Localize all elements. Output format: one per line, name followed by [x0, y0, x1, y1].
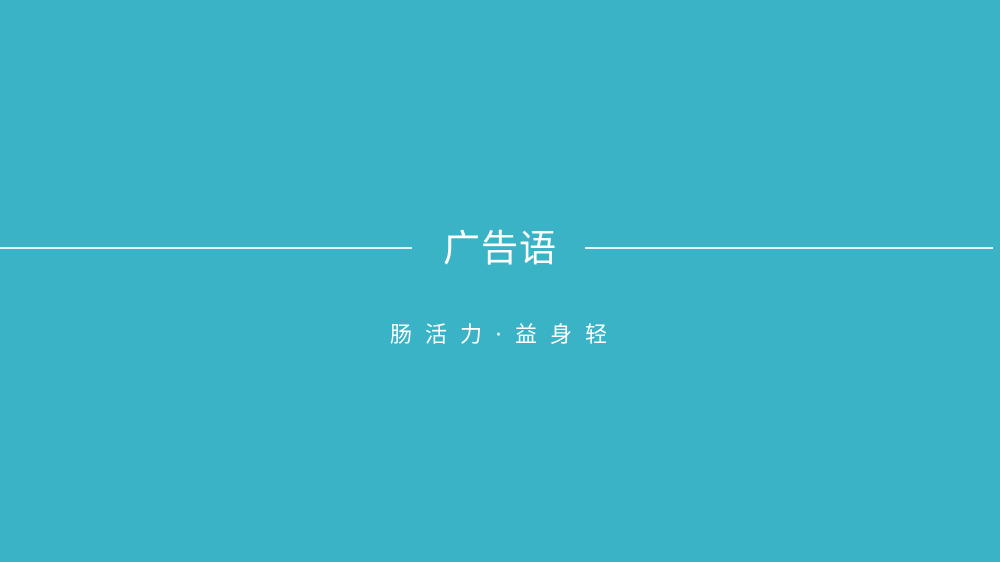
slogan-text: 肠 活 力 · 益 身 轻	[390, 325, 610, 347]
subtitle-block: 肠 活 力 · 益 身 轻	[0, 318, 1000, 354]
title-block: 广告语	[0, 219, 1000, 277]
page-title: 广告语	[443, 230, 557, 267]
slide-canvas: 广告语 肠 活 力 · 益 身 轻	[0, 0, 1000, 562]
